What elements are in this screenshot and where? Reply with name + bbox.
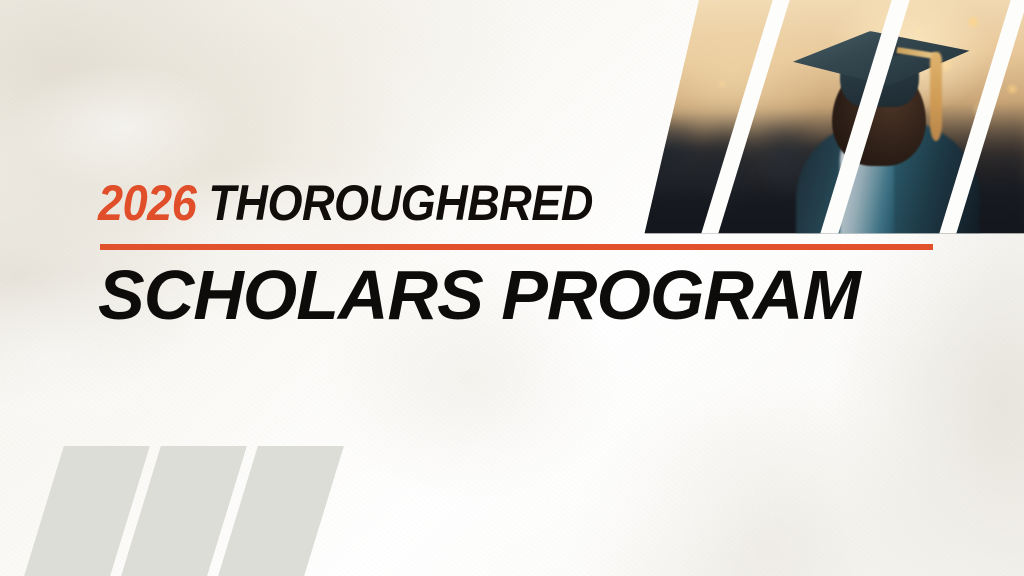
subtitle-line: 2026 THOROUGHBRED xyxy=(98,178,872,228)
page-title: SCHOLARS PROGRAM xyxy=(98,260,860,330)
tassel xyxy=(930,52,943,141)
slide-canvas: 2026 THOROUGHBRED SCHOLARS PROGRAM xyxy=(0,0,1024,576)
decorative-bars xyxy=(8,446,338,576)
accent-rule xyxy=(100,244,933,250)
program-brand: THOROUGHBRED xyxy=(196,175,593,231)
program-year: 2026 xyxy=(98,175,196,231)
title-block: 2026 THOROUGHBRED SCHOLARS PROGRAM xyxy=(98,178,958,228)
